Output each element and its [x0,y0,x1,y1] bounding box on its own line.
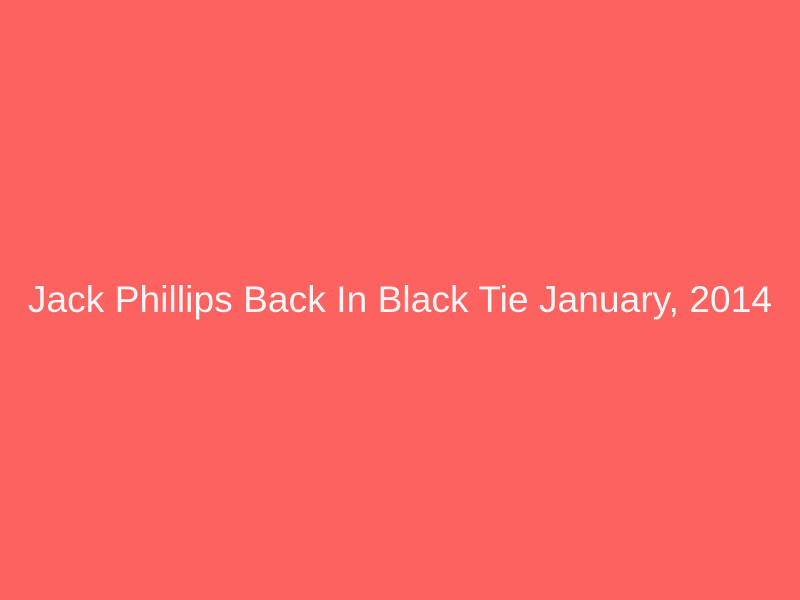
placeholder-image-canvas: Jack Phillips Back In Black Tie January,… [0,0,800,600]
placeholder-caption-text: Jack Phillips Back In Black Tie January,… [28,281,772,318]
